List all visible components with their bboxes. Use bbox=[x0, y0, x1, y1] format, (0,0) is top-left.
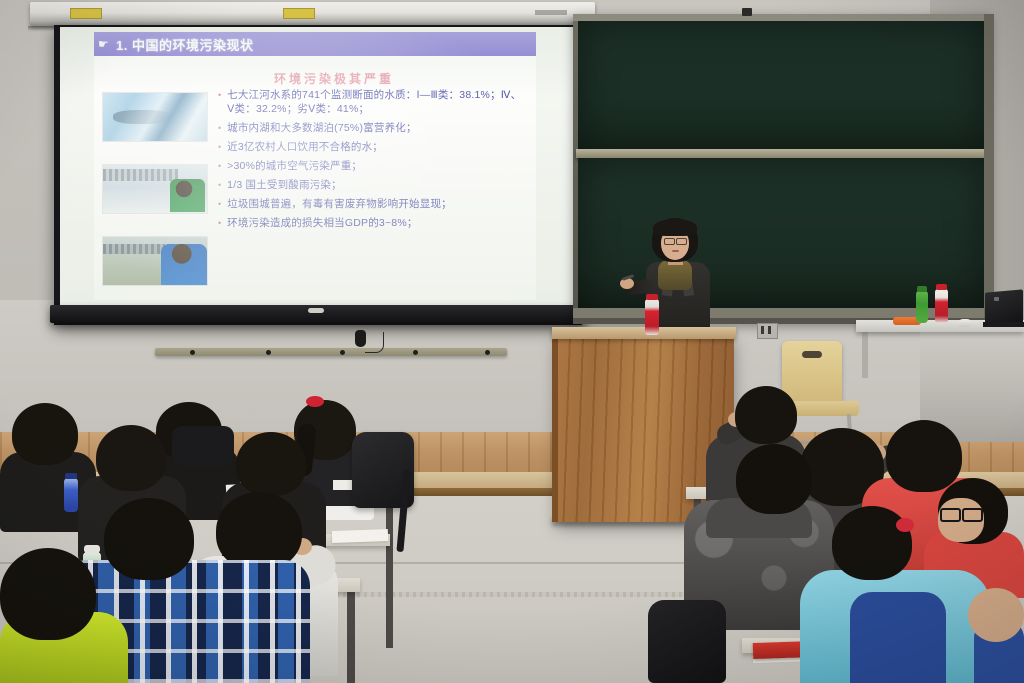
student-head bbox=[0, 548, 96, 640]
desk-leg bbox=[386, 498, 393, 648]
slide-bullet-item: • 1/3 国土受到酸雨污染； bbox=[218, 178, 528, 192]
board-clip-icon bbox=[742, 8, 752, 16]
lectern-water-bottle[interactable] bbox=[645, 299, 659, 335]
bullet-marker-icon: • bbox=[218, 159, 221, 173]
slide-heading: 环境污染极其严重 bbox=[274, 70, 394, 87]
student-head bbox=[736, 444, 812, 514]
glasses-icon bbox=[962, 508, 983, 522]
slide-bullet-item: • 城市内湖和大多数湖泊(75%)富营养化； bbox=[218, 121, 528, 135]
screen-pull-tab[interactable] bbox=[308, 308, 324, 313]
student-head bbox=[735, 386, 797, 444]
slide-bullet-item: • 垃圾围城普遍，有毒有害废弃物影响开始显现； bbox=[218, 197, 528, 211]
outlet-slot-icon bbox=[761, 326, 764, 334]
slide-photo-bridge-child-green bbox=[102, 164, 208, 214]
slide-bullet-text: 垃圾围城普遍，有毒有害废弃物影响开始显现； bbox=[227, 197, 452, 211]
presenter-hair-fringe bbox=[653, 219, 697, 236]
slide-bullet-list: • 七大江河水系的741个监测断面的水质：Ⅰ—Ⅲ类：38.1%；Ⅳ、Ⅴ类：32.… bbox=[218, 88, 528, 235]
slide-bullet-text: >30%的城市空气污染严重； bbox=[227, 159, 362, 173]
bullet-marker-icon: • bbox=[218, 140, 221, 154]
wall-mounted-rail bbox=[155, 348, 507, 356]
student-hand-raised bbox=[968, 588, 1024, 642]
slide-bullet-text: 1/3 国土受到酸雨污染； bbox=[227, 178, 342, 192]
slide-bullet-text: 近3亿农村人口饮用不合格的水； bbox=[227, 140, 383, 154]
rail-hook-icon bbox=[266, 350, 271, 355]
projector-screen-housing bbox=[30, 2, 595, 26]
glasses-icon bbox=[676, 238, 687, 245]
green-bottle-cap bbox=[917, 286, 927, 292]
student-inner-shirt bbox=[850, 592, 946, 683]
student-head bbox=[216, 492, 302, 570]
blackboard-top-trim bbox=[573, 14, 991, 21]
red-hair-tie-icon bbox=[896, 518, 914, 532]
lectern-top-surface bbox=[552, 327, 736, 339]
glasses-icon bbox=[664, 238, 675, 245]
lectern-left-edge bbox=[552, 333, 558, 522]
slide-bullet-text: 七大江河水系的741个监测断面的水质：Ⅰ—Ⅲ类：38.1%；Ⅳ、Ⅴ类：32.2%… bbox=[227, 88, 528, 116]
notebook-paper bbox=[332, 529, 388, 543]
side-desk-leg bbox=[862, 332, 868, 378]
slide-bullet-item: • 七大江河水系的741个监测断面的水质：Ⅰ—Ⅲ类：38.1%；Ⅳ、Ⅴ类：32.… bbox=[218, 88, 528, 116]
sports-bottle-cap bbox=[84, 545, 100, 553]
sensor-cable bbox=[365, 332, 384, 353]
red-label-bottle[interactable] bbox=[935, 289, 948, 323]
bullet-marker-icon: • bbox=[218, 121, 221, 135]
slide-title: 1. 中国的环境污染现状 bbox=[116, 35, 253, 54]
blue-bottle-cap bbox=[65, 473, 77, 479]
student-head bbox=[96, 425, 166, 491]
outlet-slot-icon bbox=[768, 326, 771, 334]
slide-bullet-item: • 环境污染造成的损失相当GDP的3~8%； bbox=[218, 216, 528, 230]
student-head bbox=[104, 498, 194, 580]
bullet-marker-icon: • bbox=[218, 88, 221, 102]
rail-hook-icon bbox=[485, 350, 490, 355]
student-head bbox=[886, 420, 962, 492]
warning-label-icon bbox=[70, 8, 102, 19]
blackboard-panel-upper bbox=[578, 21, 986, 149]
rail-hook-icon bbox=[413, 350, 418, 355]
slide-bullet-item: • >30%的城市空气污染严重； bbox=[218, 159, 528, 173]
student-head bbox=[12, 403, 78, 465]
slide-body: 环境污染极其严重 • 七大江河水系的741个监测断面的水质：Ⅰ—Ⅲ类：38.1%… bbox=[94, 56, 536, 300]
housing-brand-mark bbox=[535, 10, 567, 15]
rail-hook-icon bbox=[190, 350, 195, 355]
laptop-logo-icon bbox=[994, 297, 999, 301]
slide-bullet-text: 城市内湖和大多数湖泊(75%)富营养化； bbox=[227, 121, 417, 135]
presenter-mouth bbox=[672, 250, 679, 252]
presenter bbox=[620, 218, 730, 334]
backpack bbox=[172, 426, 234, 466]
red-hair-tie-icon bbox=[306, 396, 324, 407]
classroom-lecture-scene: ☛ 1. 中国的环境污染现状 环境污染极其严重 • 七大江河水系的741个监测断… bbox=[0, 0, 1024, 683]
bullet-marker-icon: • bbox=[218, 178, 221, 192]
student-head bbox=[236, 432, 306, 496]
slide-title-band: ☛ 1. 中国的环境污染现状 bbox=[94, 32, 536, 56]
rail-hook-icon bbox=[340, 350, 345, 355]
green-tea-bottle[interactable] bbox=[916, 291, 928, 323]
slide-photo-polluted-river bbox=[102, 92, 208, 142]
blackboard-right-trim bbox=[984, 14, 994, 318]
slide-photo-bridge-boy-blue bbox=[102, 236, 208, 286]
laptop-base bbox=[983, 322, 1024, 327]
slide-photo-column bbox=[102, 92, 210, 307]
lectern-bottle-cap bbox=[646, 294, 658, 300]
slide-bullet-text: 环境污染造成的损失相当GDP的3~8%； bbox=[227, 216, 417, 230]
glasses-icon bbox=[940, 508, 961, 522]
warning-label-icon-2 bbox=[283, 8, 315, 19]
pointing-hand-icon: ☛ bbox=[98, 37, 109, 51]
bullet-marker-icon: • bbox=[218, 197, 221, 211]
blackboard-chalk-ledge bbox=[576, 149, 988, 158]
black-backpack bbox=[648, 600, 726, 683]
computer-mouse[interactable] bbox=[958, 319, 972, 327]
chair-handle-hole-icon bbox=[802, 351, 822, 358]
bullet-marker-icon: • bbox=[218, 216, 221, 230]
projected-slide: ☛ 1. 中国的环境污染现状 环境污染极其严重 • 七大江河水系的741个监测断… bbox=[60, 27, 576, 307]
student-head-ponytail bbox=[832, 506, 912, 580]
red-bottle-cap bbox=[936, 284, 947, 290]
blue-water-bottle[interactable] bbox=[64, 478, 78, 512]
motion-sensor-icon bbox=[355, 330, 366, 347]
desk-leg bbox=[347, 588, 355, 683]
slide-bullet-item: • 近3亿农村人口饮用不合格的水； bbox=[218, 140, 528, 154]
